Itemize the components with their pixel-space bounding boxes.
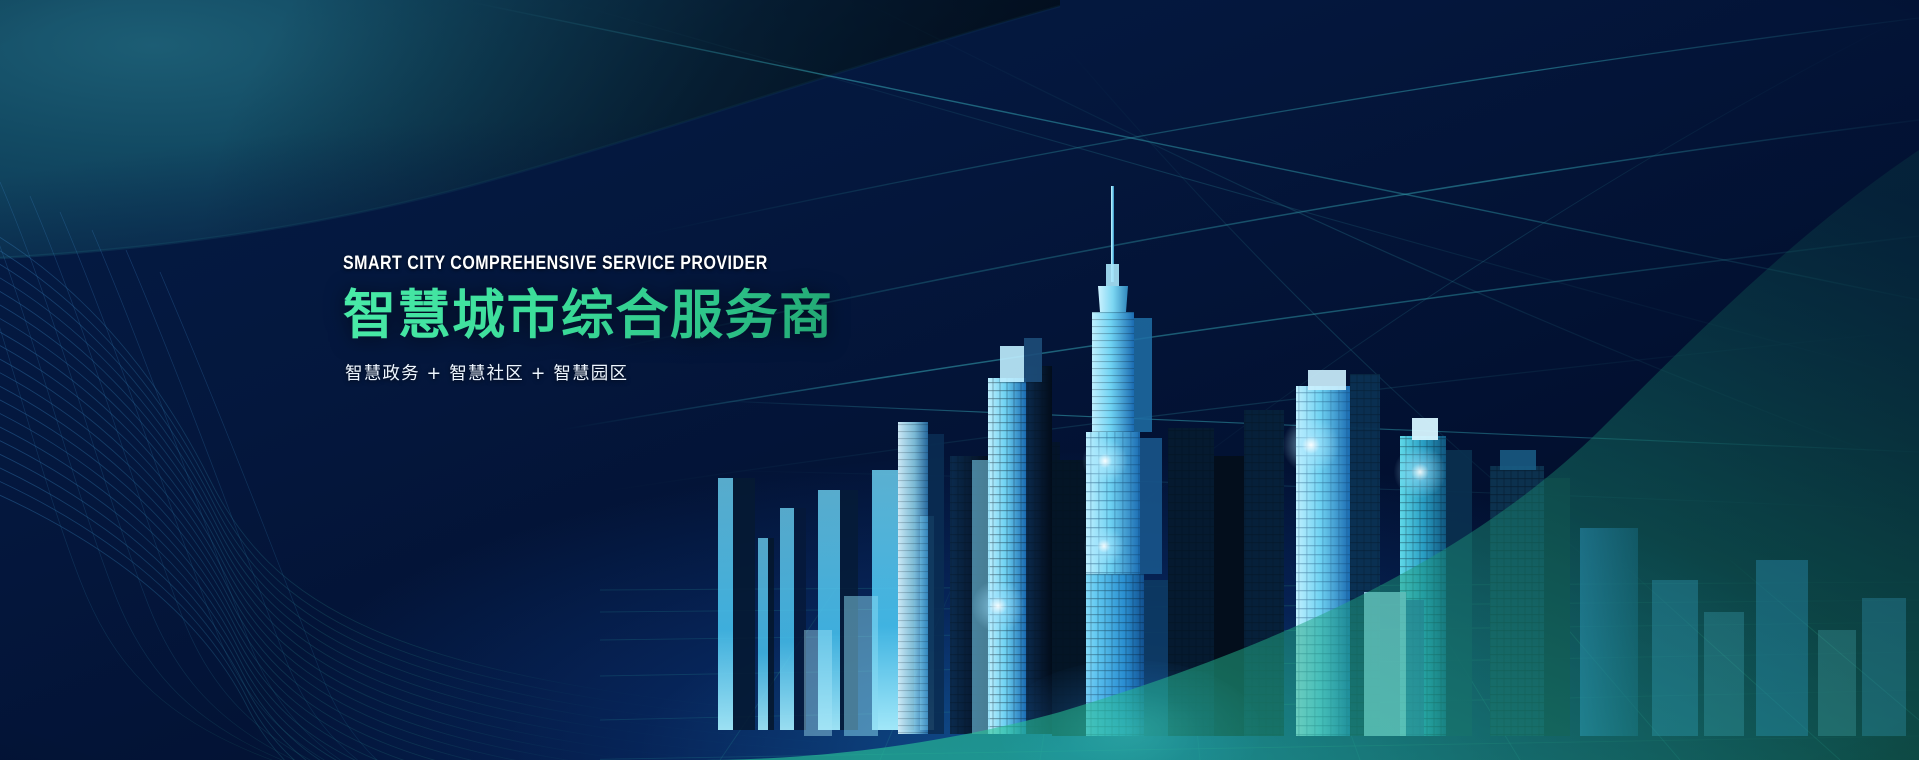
low-pale-box (1364, 592, 1424, 736)
subtitle: 智慧政务 + 智慧社区 + 智慧园区 (345, 360, 983, 385)
3d-city-skyline (700, 160, 1919, 760)
main-tower (1052, 186, 1170, 736)
hero-text-block: SMART CITY COMPREHENSIVE SERVICE PROVIDE… (343, 252, 983, 385)
dark-textured-towers (1168, 410, 1284, 736)
page-title: 智慧城市综合服务商 (343, 287, 983, 344)
rounded-tower-right (1490, 450, 1570, 736)
pale-slab-tower (898, 422, 944, 734)
hero-banner: SMART CITY COMPREHENSIVE SERVICE PROVIDE… (0, 0, 1919, 760)
stepped-cyan-tower (972, 338, 1052, 734)
translucent-right-slabs (1580, 528, 1906, 736)
english-tagline: SMART CITY COMPREHENSIVE SERVICE PROVIDE… (343, 252, 868, 275)
